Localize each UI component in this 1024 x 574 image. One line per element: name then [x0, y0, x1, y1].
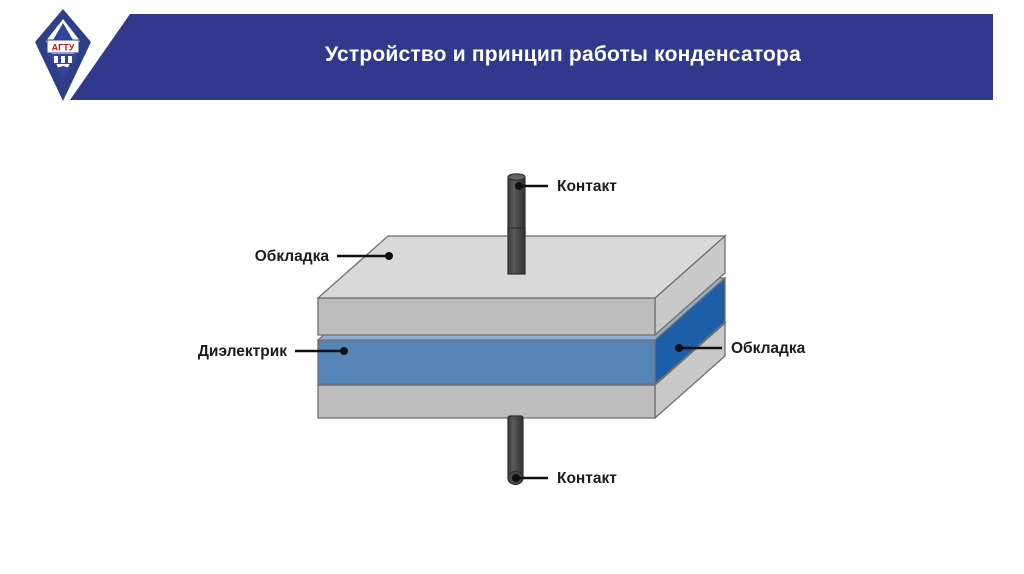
top-contact-cap	[508, 174, 525, 180]
diagram-area: Контакт Обкладка Диэлектрик Обкладка Кон…	[0, 110, 1024, 574]
bottom-plate-leader-dot	[675, 344, 683, 352]
logo-initials: АГТУ	[52, 43, 75, 53]
capacitor-construction-diagram: Контакт Обкладка Диэлектрик Обкладка Кон…	[0, 110, 1024, 574]
header-banner-shape	[0, 0, 1024, 110]
top-contact-label-text: Контакт	[557, 178, 617, 195]
top-contact-embedded-segment	[508, 228, 525, 274]
agtu-diamond-logo: АГТУ	[34, 8, 92, 102]
bottom-contact-leader-dot	[512, 474, 520, 482]
label-bottom-contact: Контакт	[512, 470, 617, 487]
dielectric-label-text: Диэлектрик	[198, 343, 287, 360]
label-top-contact: Контакт	[515, 178, 617, 195]
logo-arch-slot-1	[54, 56, 58, 63]
header-banner-polygon	[70, 14, 993, 100]
bottom-plate-label-text: Обкладка	[731, 340, 806, 357]
bottom-contact-label-text: Контакт	[557, 470, 617, 487]
top-plate-leader-dot	[385, 252, 393, 260]
logo-arch-slot-3	[68, 56, 72, 63]
logo-arch-slot-2	[61, 56, 65, 63]
top-contact-leader-dot	[515, 182, 523, 190]
top-plate-front-face	[318, 298, 655, 335]
top-plate-label-text: Обкладка	[255, 248, 330, 265]
bottom-contact-body	[508, 416, 523, 480]
bottom-plate-front-face	[318, 385, 655, 418]
dielectric-leader-dot	[340, 347, 348, 355]
dielectric-front-face	[318, 340, 655, 384]
